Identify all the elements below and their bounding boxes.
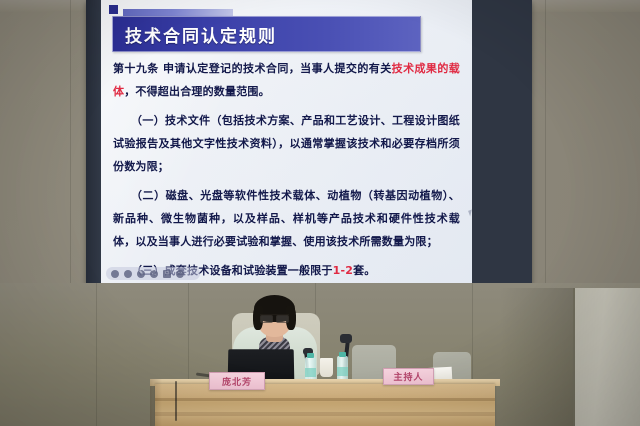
slide-paragraph-item-2: （二）磁盘、光盘等软件性技术载体、动植物（转基因动植物）、新品种、微生物菌种，以…: [113, 184, 460, 253]
name-placard-speaker-text: 庞北芳: [222, 375, 252, 388]
name-placard-host: 主持人: [383, 368, 434, 385]
previous-slide-icon[interactable]: ‹: [189, 270, 195, 278]
zoom-slide-icon[interactable]: ⛶: [150, 270, 158, 278]
mouse-cursor: [468, 209, 472, 216]
bottle-cap: [339, 352, 346, 357]
conference-table-front: [155, 384, 495, 426]
pointer-icon[interactable]: [111, 270, 119, 278]
wall-seam-lower-1: [96, 283, 97, 426]
presenter-toolbar[interactable]: ✎⛶▭⋯‹: [106, 267, 200, 280]
slide-paragraph-item-1: （一）技术文件（包括技术方案、产品和工艺设计、工程设计图纸试验报告及其他文字性技…: [113, 109, 460, 178]
bottle-label: [305, 368, 316, 377]
right-column: [575, 288, 640, 426]
table-molding-upper: [155, 398, 495, 401]
projection-screen-bezel-left: [86, 0, 102, 284]
body-text: ，不得超出合理的数量范围。: [124, 85, 270, 98]
slide-title-banner: 技术合同认定规则: [112, 16, 421, 52]
body-text: （一）技术文件（包括技术方案、产品和工艺设计、工程设计图纸试验报告及其他文字性技…: [113, 114, 460, 173]
all-slides-icon[interactable]: ▭: [163, 270, 171, 278]
ink-color-icon[interactable]: [124, 270, 132, 278]
bottle-label: [337, 367, 348, 376]
slide-paragraph-article-19: 第十九条 申请认定登记的技术合同，当事人提交的有关技术成果的载体，不得超出合理的…: [113, 57, 460, 103]
name-placard-host-text: 主持人: [393, 370, 423, 383]
body-text: 套。: [353, 264, 375, 277]
paper-cup: [320, 358, 333, 377]
bottle-cap: [307, 353, 314, 358]
slide-body-text: 第十九条 申请认定登记的技术合同，当事人提交的有关技术成果的载体，不得超出合理的…: [113, 57, 460, 283]
table-shadow: [150, 379, 162, 426]
decoration-square: [109, 5, 118, 14]
conference-room-photo: 技术合同认定规则 第十九条 申请认定登记的技术合同，当事人提交的有关技术成果的载…: [0, 0, 640, 426]
table-molding-lower: [155, 412, 495, 416]
highlighted-text: 1-2: [333, 264, 353, 277]
body-text: 第十九条 申请认定登记的技术合同，当事人提交的有关: [113, 62, 392, 75]
projected-slide: 技术合同认定规则 第十九条 申请认定登记的技术合同，当事人提交的有关技术成果的载…: [101, 0, 472, 283]
slide-title: 技术合同认定规则: [125, 22, 277, 47]
microphone-right-head: [340, 334, 352, 343]
glasses-lens-left: [260, 315, 273, 323]
name-placard-speaker: 庞北芳: [209, 372, 265, 390]
body-text: （二）磁盘、光盘等软件性技术载体、动植物（转基因动植物）、新品种、微生物菌种，以…: [113, 189, 460, 248]
wall-shadow: [500, 288, 575, 426]
more-options-icon[interactable]: ⋯: [176, 270, 184, 278]
floor-cable: [175, 381, 177, 421]
speaker-glasses: [260, 314, 289, 321]
glasses-lens-right: [276, 315, 289, 323]
pen-icon[interactable]: ✎: [137, 270, 145, 278]
